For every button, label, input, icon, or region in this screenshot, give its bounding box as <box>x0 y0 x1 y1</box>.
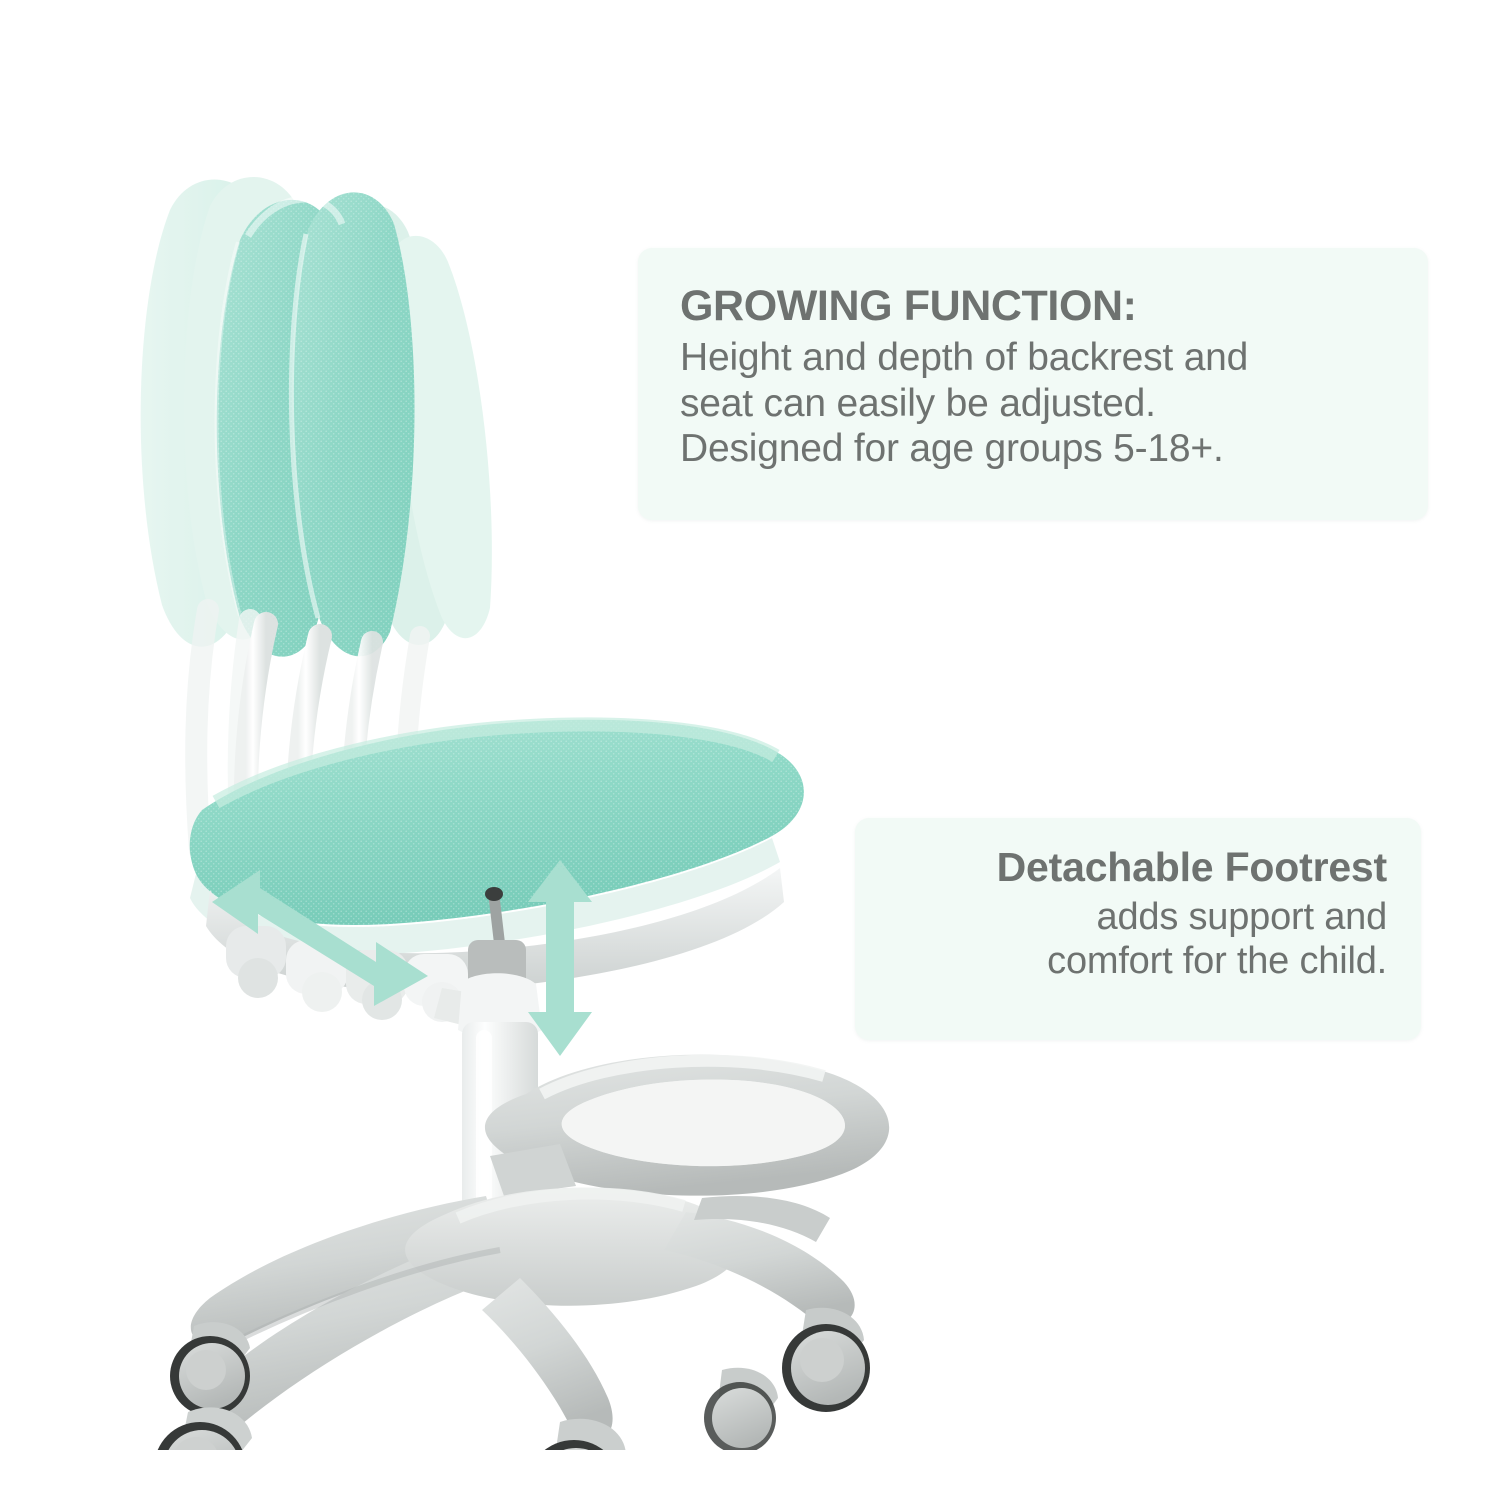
backrest-cushion <box>217 192 415 656</box>
infographic-canvas: GROWING FUNCTION: Height and depth of ba… <box>0 0 1500 1500</box>
callout-footrest-heading: Detachable Footrest <box>889 844 1387 891</box>
caster <box>704 1368 778 1450</box>
callout-growing-function: GROWING FUNCTION: Height and depth of ba… <box>638 248 1428 520</box>
callout-growing-line-2: seat can easily be adjusted. <box>680 381 1388 427</box>
callout-detachable-footrest: Detachable Footrest adds support and com… <box>855 818 1421 1040</box>
callout-growing-line-1: Height and depth of backrest and <box>680 335 1388 381</box>
callout-growing-line-3: Designed for age groups 5-18+. <box>680 426 1388 472</box>
callout-footrest-line-2: comfort for the child. <box>889 939 1387 983</box>
caster <box>170 1322 250 1416</box>
callout-footrest-line-1: adds support and <box>889 895 1387 939</box>
detachable-footrest-ring <box>485 1041 889 1196</box>
callout-growing-heading: GROWING FUNCTION: <box>680 282 1388 331</box>
caster <box>782 1308 870 1412</box>
